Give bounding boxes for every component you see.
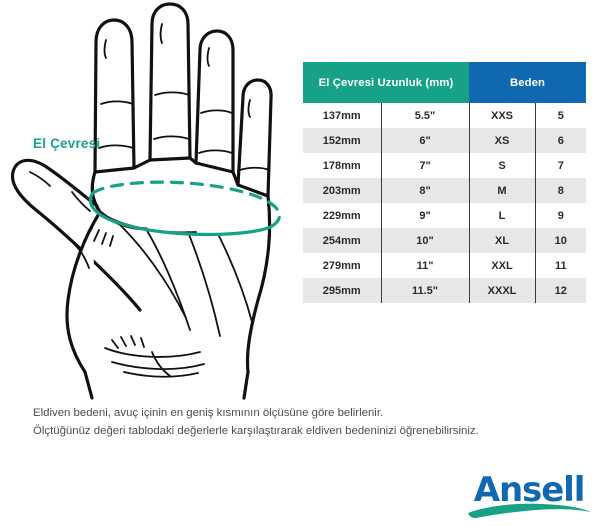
hand-illustration bbox=[0, 0, 300, 400]
table-row: 279mm 11" XXL 11 bbox=[303, 253, 586, 278]
cell-mm: 152mm bbox=[303, 128, 381, 153]
cell-mm: 229mm bbox=[303, 203, 381, 228]
header-size: Beden bbox=[469, 62, 586, 103]
cell-num: 6 bbox=[535, 128, 586, 153]
cell-mm: 254mm bbox=[303, 228, 381, 253]
cell-inch: 7" bbox=[381, 153, 469, 178]
table-row: 137mm 5.5" XXS 5 bbox=[303, 103, 586, 128]
table-row: 152mm 6" XS 6 bbox=[303, 128, 586, 153]
cell-size: XS bbox=[469, 128, 535, 153]
ansell-logo: Ansell bbox=[466, 472, 592, 520]
cell-num: 8 bbox=[535, 178, 586, 203]
table-row: 254mm 10" XL 10 bbox=[303, 228, 586, 253]
cell-mm: 178mm bbox=[303, 153, 381, 178]
cell-size: XXS bbox=[469, 103, 535, 128]
table-row: 178mm 7" S 7 bbox=[303, 153, 586, 178]
cell-num: 12 bbox=[535, 278, 586, 303]
cell-num: 5 bbox=[535, 103, 586, 128]
cell-num: 9 bbox=[535, 203, 586, 228]
cell-size: L bbox=[469, 203, 535, 228]
table-header-row: El Çevresi Uzunluk (mm) Beden bbox=[303, 62, 586, 103]
cell-mm: 137mm bbox=[303, 103, 381, 128]
cell-inch: 10" bbox=[381, 228, 469, 253]
table-row: 229mm 9" L 9 bbox=[303, 203, 586, 228]
cell-inch: 11" bbox=[381, 253, 469, 278]
cell-num: 10 bbox=[535, 228, 586, 253]
cell-inch: 5.5" bbox=[381, 103, 469, 128]
cell-size: S bbox=[469, 153, 535, 178]
table-row: 295mm 11.5" XXXL 12 bbox=[303, 278, 586, 303]
cell-mm: 295mm bbox=[303, 278, 381, 303]
caption-line-1: Eldiven bedeni, avuç içinin en geniş kıs… bbox=[33, 405, 573, 423]
cell-size: XL bbox=[469, 228, 535, 253]
cell-inch: 6" bbox=[381, 128, 469, 153]
cell-inch: 8" bbox=[381, 178, 469, 203]
cell-mm: 279mm bbox=[303, 253, 381, 278]
caption-line-2: Ölçtüğünüz değeri tablodaki değerlerle k… bbox=[33, 423, 573, 441]
table-row: 203mm 8" M 8 bbox=[303, 178, 586, 203]
header-hand-circumference: El Çevresi Uzunluk (mm) bbox=[303, 62, 469, 103]
cell-num: 11 bbox=[535, 253, 586, 278]
cell-inch: 11.5" bbox=[381, 278, 469, 303]
size-chart-table: El Çevresi Uzunluk (mm) Beden 137mm 5.5"… bbox=[303, 62, 586, 303]
measurement-label: El Çevresi bbox=[33, 136, 100, 151]
instructions-caption: Eldiven bedeni, avuç içinin en geniş kıs… bbox=[33, 405, 573, 440]
table-body: 137mm 5.5" XXS 5 152mm 6" XS 6 178mm 7" … bbox=[303, 103, 586, 303]
size-chart-page: El Çevresi El Çevresi Uzunluk (mm) Beden… bbox=[0, 0, 600, 526]
cell-mm: 203mm bbox=[303, 178, 381, 203]
cell-size: M bbox=[469, 178, 535, 203]
cell-size: XXL bbox=[469, 253, 535, 278]
cell-num: 7 bbox=[535, 153, 586, 178]
cell-size: XXXL bbox=[469, 278, 535, 303]
cell-inch: 9" bbox=[381, 203, 469, 228]
logo-swoosh-icon bbox=[466, 502, 592, 520]
